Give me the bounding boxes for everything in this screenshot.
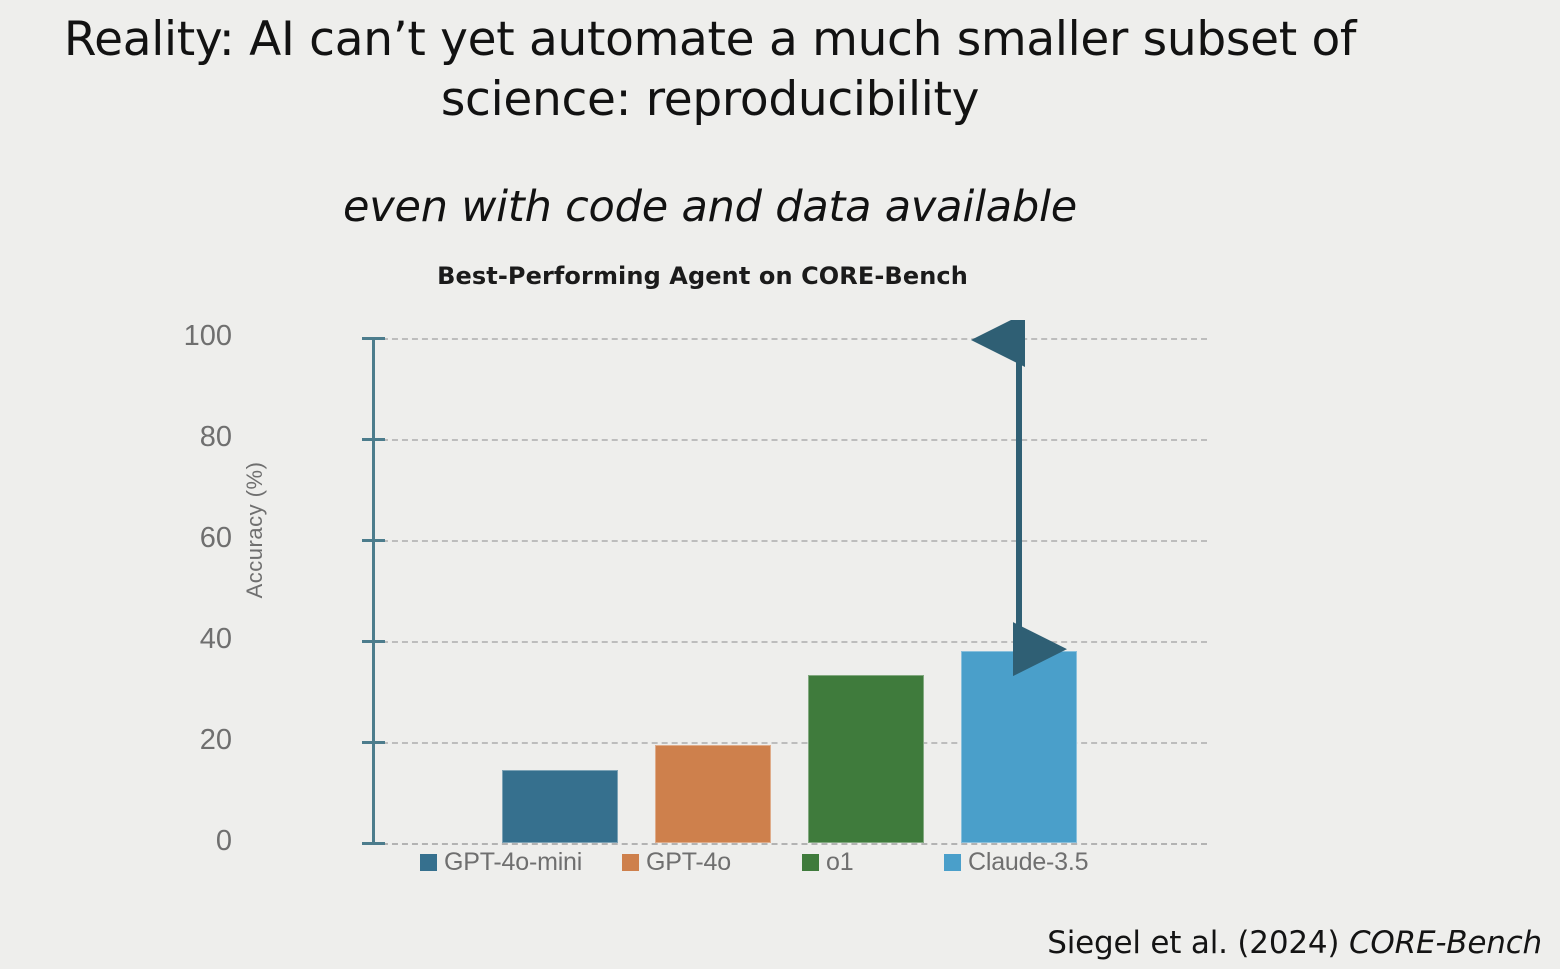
chart-title: Best-Performing Agent on CORE-Bench [190,262,1215,290]
y-axis-label: Accuracy (%) [242,430,268,630]
legend-swatch-icon [420,854,437,871]
y-tick-label: 60 [142,524,232,553]
legend-item-gpt-4o-mini[interactable]: GPT-4o-mini [420,848,582,877]
legend-swatch-icon [944,854,961,871]
y-tick-label: 40 [142,625,232,654]
citation-authors: Siegel et al. (2024) [1047,925,1349,961]
y-tick-label: 20 [142,726,232,755]
y-tick-label: 0 [142,827,232,856]
citation-work: CORE-Bench [1349,925,1542,961]
chart-legend: GPT-4o-miniGPT-4oo1Claude-3.5 [372,848,1207,888]
legend-item-gpt-4o[interactable]: GPT-4o [622,848,731,877]
bar-series [372,338,1207,843]
gridline [372,843,1207,845]
bar-o1 [808,675,924,843]
bar-gpt-4o-mini [502,770,618,843]
legend-swatch-icon [622,854,639,871]
legend-label: GPT-4o [646,848,731,877]
y-tick-label: 100 [142,322,232,351]
legend-label: o1 [826,848,853,877]
bar-claude-3-5 [961,651,1077,843]
legend-item-claude-3-5[interactable]: Claude-3.5 [944,848,1088,877]
slide-title: Reality: AI can’t yet automate a much sm… [0,10,1420,130]
citation: Siegel et al. (2024) CORE-Bench [1047,925,1542,961]
legend-swatch-icon [802,854,819,871]
legend-label: Claude-3.5 [968,848,1088,877]
bar-gpt-4o [655,745,771,843]
y-tick-label: 80 [142,423,232,452]
slide-subtitle: even with code and data available [0,182,1420,232]
chart-figure: Best-Performing Agent on CORE-Bench Accu… [190,262,1250,907]
legend-label: GPT-4o-mini [444,848,582,877]
legend-item-o1[interactable]: o1 [802,848,853,877]
plot-area: Accuracy (%) 020406080100 [190,320,1250,850]
